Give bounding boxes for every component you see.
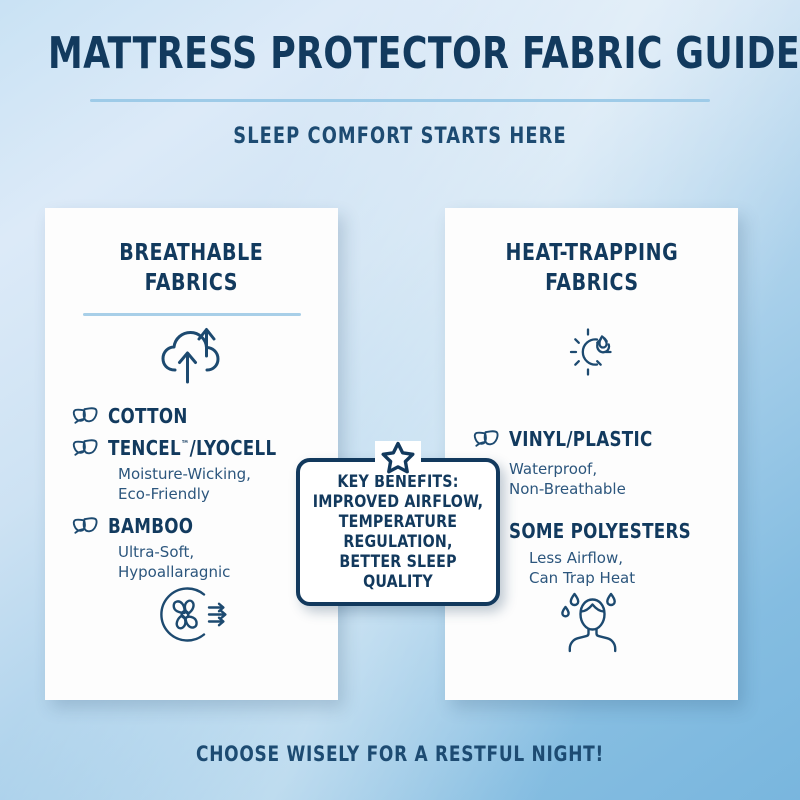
desc-line-1: Waterproof, (509, 460, 597, 478)
right-card-title-line2: FABRICS (545, 270, 638, 296)
fabric-name: TENCEL™/LYOCELL (108, 436, 276, 460)
list-item: SOME POLYESTERS (473, 519, 705, 543)
heat-trapping-fabrics-card: HEAT-TRAPPING FABRICS (445, 208, 738, 700)
badge-text: KEY BENEFITS: IMPROVED AIRFLOW, TEMPERAT… (307, 472, 489, 592)
footer-text: CHOOSE WISELY FOR A RESTFUL NIGHT! (40, 742, 760, 766)
desc-line-2: Hypoallaragnic (118, 563, 230, 581)
desc-line-1: Moisture-Wicking, (118, 465, 251, 483)
left-card-divider (83, 313, 301, 316)
fabric-description: Waterproof, Non-Breathable (509, 459, 626, 499)
fabric-name: COTTON (108, 404, 188, 428)
fan-airflow-icon (67, 584, 316, 646)
poster-footer: CHOOSE WISELY FOR A RESTFUL NIGHT! (0, 742, 800, 766)
fabric-name: VINYL/PLASTIC (509, 427, 653, 451)
left-card-title-line2: FABRICS (145, 270, 238, 296)
trademark-symbol: ™ (181, 439, 190, 450)
list-item: COTTON (72, 404, 194, 428)
key-benefits-badge: KEY BENEFITS: IMPROVED AIRFLOW, TEMPERAT… (296, 458, 500, 606)
fabric-description: Less Airflow, Can Trap Heat (529, 548, 635, 588)
list-item: TENCEL™/LYOCELL (72, 436, 289, 460)
badge-line-3: TEMPERATURE (339, 512, 457, 532)
right-fabric-list: VINYL/PLASTIC Waterproof, Non-Breathable (461, 417, 722, 590)
right-card-title-line1: HEAT-TRAPPING (505, 240, 678, 266)
left-card-title: BREATHABLE FABRICS (119, 238, 263, 298)
page-subtitle: SLEEP COMFORT STARTS HERE (40, 124, 760, 149)
fabric-name-base: TENCEL (108, 436, 181, 460)
fabric-description: Ultra-Soft, Hypoallaragnic (118, 542, 230, 582)
desc-line-2: Eco-Friendly (118, 485, 210, 503)
right-card-title: HEAT-TRAPPING FABRICS (505, 238, 678, 298)
desc-line-1: Less Airflow, (529, 549, 623, 567)
left-card-title-line1: BREATHABLE (119, 240, 263, 266)
page-title: MATTRESS PROTECTOR FABRIC GUIDE (48, 28, 752, 80)
sun-flame-icon (564, 327, 620, 377)
cloud-airflow-icon (159, 324, 225, 390)
fabric-name: BAMBOO (108, 514, 193, 538)
desc-line-2: Can Trap Heat (529, 569, 635, 587)
title-divider (90, 99, 710, 102)
badge-line-2: IMPROVED AIRFLOW, (313, 492, 484, 512)
badge-line-4: REGULATION, (343, 532, 452, 552)
leaf-icon (72, 516, 98, 536)
breathable-fabrics-card: BREATHABLE FABRICS (45, 208, 338, 700)
sweating-person-icon (467, 590, 716, 652)
list-item: VINYL/PLASTIC (473, 427, 663, 451)
leaf-icon (72, 438, 98, 458)
list-item: BAMBOO (72, 514, 200, 538)
infographic-poster: MATTRESS PROTECTOR FABRIC GUIDE SLEEP CO… (0, 0, 800, 800)
badge-line-5: BETTER SLEEP QUALITY (339, 552, 456, 592)
left-fabric-list: COTTON TENCEL™/LYOCELL Moisture-Wicking, (62, 396, 321, 584)
leaf-icon (72, 406, 98, 426)
desc-line-1: Ultra-Soft, (118, 543, 194, 561)
poster-header: MATTRESS PROTECTOR FABRIC GUIDE SLEEP CO… (0, 28, 800, 149)
fabric-name: SOME POLYESTERS (509, 519, 691, 543)
desc-line-2: Non-Breathable (509, 480, 626, 498)
star-icon (375, 441, 421, 475)
leaf-icon (473, 429, 499, 449)
badge-line-1: KEY BENEFITS: (337, 472, 458, 492)
fabric-name-rest: /LYOCELL (190, 436, 277, 460)
fabric-description: Moisture-Wicking, Eco-Friendly (118, 464, 251, 504)
